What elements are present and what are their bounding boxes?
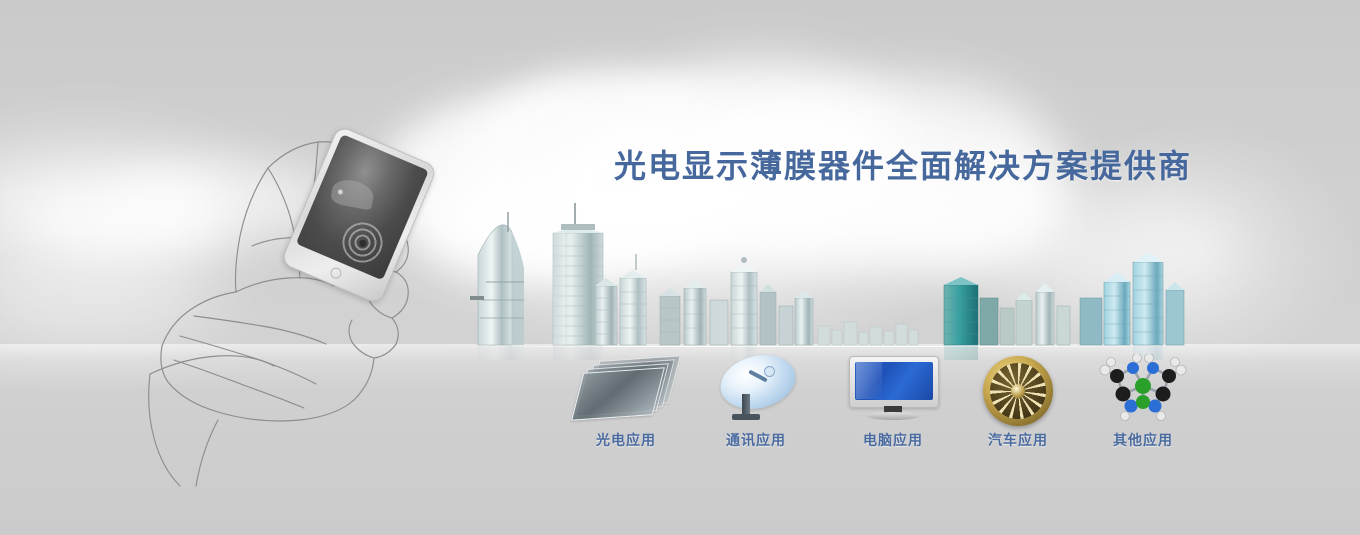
application-item-computer[interactable]: 电脑应用 [827,352,959,450]
satellite-dish-icon [690,352,822,424]
lcd-monitor-icon [827,352,959,424]
application-item-other[interactable]: 其他应用 [1077,352,1209,450]
molecule-model-icon [1077,352,1209,424]
application-label: 电脑应用 [827,430,959,450]
screen-glyph [330,177,376,211]
application-label: 汽车应用 [952,430,1084,450]
page-title: 光电显示薄膜器件全面解决方案提供商 [614,141,1192,187]
application-label: 通讯应用 [690,430,822,450]
application-list: 光电应用 通讯应用 电脑应用 [0,352,1360,462]
application-label: 光电应用 [560,430,692,450]
glass-film-stack-icon [560,352,692,424]
application-label: 其他应用 [1077,430,1209,450]
alloy-wheel-icon [952,352,1084,424]
application-item-automotive[interactable]: 汽车应用 [952,352,1084,450]
application-item-communication[interactable]: 通讯应用 [690,352,822,450]
application-item-optoelectronic[interactable]: 光电应用 [560,352,692,450]
hero-banner: 光电显示薄膜器件全面解决方案提供商 光电应用 [0,0,1360,535]
